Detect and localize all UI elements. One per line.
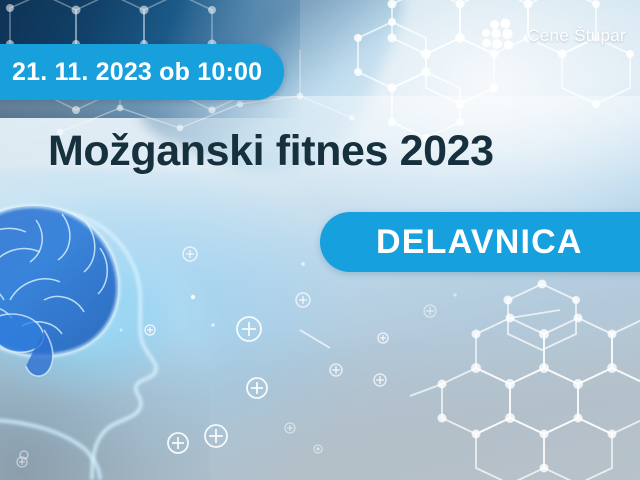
brand-name: Cene Štupar bbox=[527, 26, 626, 46]
page-title: Možganski fitnes 2023 bbox=[48, 127, 494, 176]
event-type-text: DELAVNICA bbox=[376, 223, 583, 262]
event-date-text: 21. 11. 2023 ob 10:00 bbox=[12, 58, 262, 87]
event-banner: 21. 11. 2023 ob 10:00 Možganski fitnes 2… bbox=[0, 0, 640, 480]
background-shadow-bottom-left bbox=[0, 270, 210, 480]
brand-logo: Cene Štupar bbox=[482, 18, 626, 54]
event-date-badge: 21. 11. 2023 ob 10:00 bbox=[0, 44, 284, 100]
event-type-badge: DELAVNICA bbox=[320, 212, 640, 272]
dot-grid-icon bbox=[482, 18, 518, 54]
